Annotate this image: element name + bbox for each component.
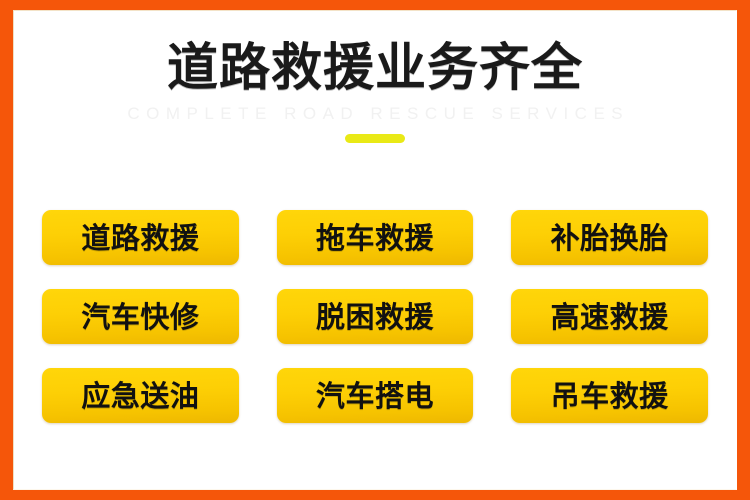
poster-header: 道路救援业务齐全 COMPLETE ROAD RESCUE SERVICES [14,11,736,143]
poster-frame: 道路救援业务齐全 COMPLETE ROAD RESCUE SERVICES 道… [0,0,750,500]
accent-divider [345,134,405,143]
service-button-road-rescue[interactable]: 道路救援 [42,210,239,265]
service-button-highway-rescue[interactable]: 高速救援 [511,289,708,344]
service-button-label: 拖车救援 [316,222,434,254]
service-button-label: 高速救援 [551,301,669,333]
service-button-quick-car-repair[interactable]: 汽车快修 [42,289,239,344]
service-button-emergency-fuel-delivery[interactable]: 应急送油 [42,368,239,423]
page-subtitle: COMPLETE ROAD RESCUE SERVICES [14,98,736,125]
service-button-label: 道路救援 [81,222,199,254]
service-button-grid: 道路救援 拖车救援 补胎换胎 汽车快修 脱困救援 高速救援 应急送油 汽车搭电 [42,210,708,423]
service-button-label: 脱困救援 [316,301,434,333]
poster-canvas: 道路救援业务齐全 COMPLETE ROAD RESCUE SERVICES 道… [13,10,737,490]
service-button-tow-rescue[interactable]: 拖车救援 [277,210,474,265]
service-button-tire-repair-replace[interactable]: 补胎换胎 [511,210,708,265]
service-button-jump-start[interactable]: 汽车搭电 [277,368,474,423]
service-button-label: 汽车搭电 [316,380,434,412]
service-button-label: 应急送油 [81,380,199,412]
service-button-stuck-vehicle-rescue[interactable]: 脱困救援 [277,289,474,344]
service-button-label: 补胎换胎 [551,222,669,254]
service-button-crane-rescue[interactable]: 吊车救援 [511,368,708,423]
page-title: 道路救援业务齐全 [14,11,736,98]
service-button-label: 汽车快修 [81,301,199,333]
service-button-label: 吊车救援 [551,380,669,412]
accent-bar-container [14,125,736,143]
